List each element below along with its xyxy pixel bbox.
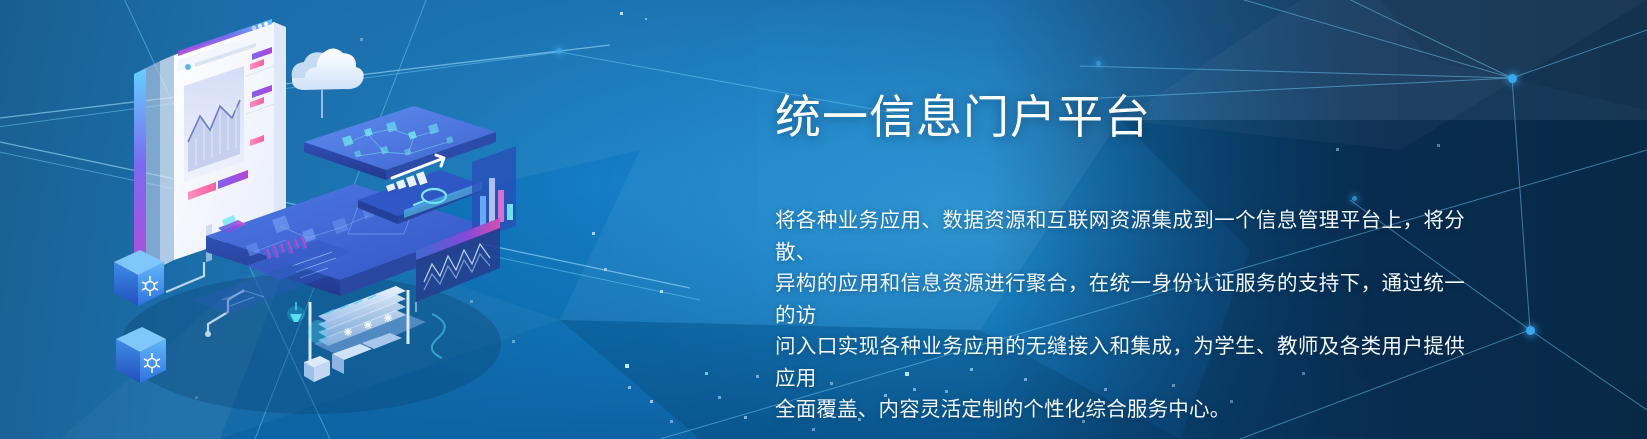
hero-description-line: 问入口实现各种业务应用的无缝接入和集成，为学生、教师及各类用户提供应用	[775, 331, 1465, 394]
hero-description-line: 异构的应用和信息资源进行聚合，在统一身份认证服务的支持下，通过统一的访	[775, 268, 1465, 331]
hero-banner: 统一信息门户平台 将各种业务应用、数据资源和互联网资源集成到一个信息管理平台上，…	[0, 0, 1647, 439]
settings-cube-upper	[114, 250, 164, 306]
hero-copy: 统一信息门户平台 将各种业务应用、数据资源和互联网资源集成到一个信息管理平台上，…	[775, 0, 1465, 439]
cloud-icon	[292, 49, 364, 119]
page-title: 统一信息门户平台	[775, 92, 1151, 143]
hero-description: 将各种业务应用、数据资源和互联网资源集成到一个信息管理平台上，将分散、 异构的应…	[775, 205, 1465, 426]
data-platform-slab-upper	[304, 106, 496, 180]
hero-description-line: 将各种业务应用、数据资源和互联网资源集成到一个信息管理平台上，将分散、	[775, 205, 1465, 268]
hero-description-line: 全面覆盖、内容灵活定制的个性化综合服务中心。	[775, 394, 1465, 426]
isometric-data-platform-illustration	[96, 14, 526, 426]
